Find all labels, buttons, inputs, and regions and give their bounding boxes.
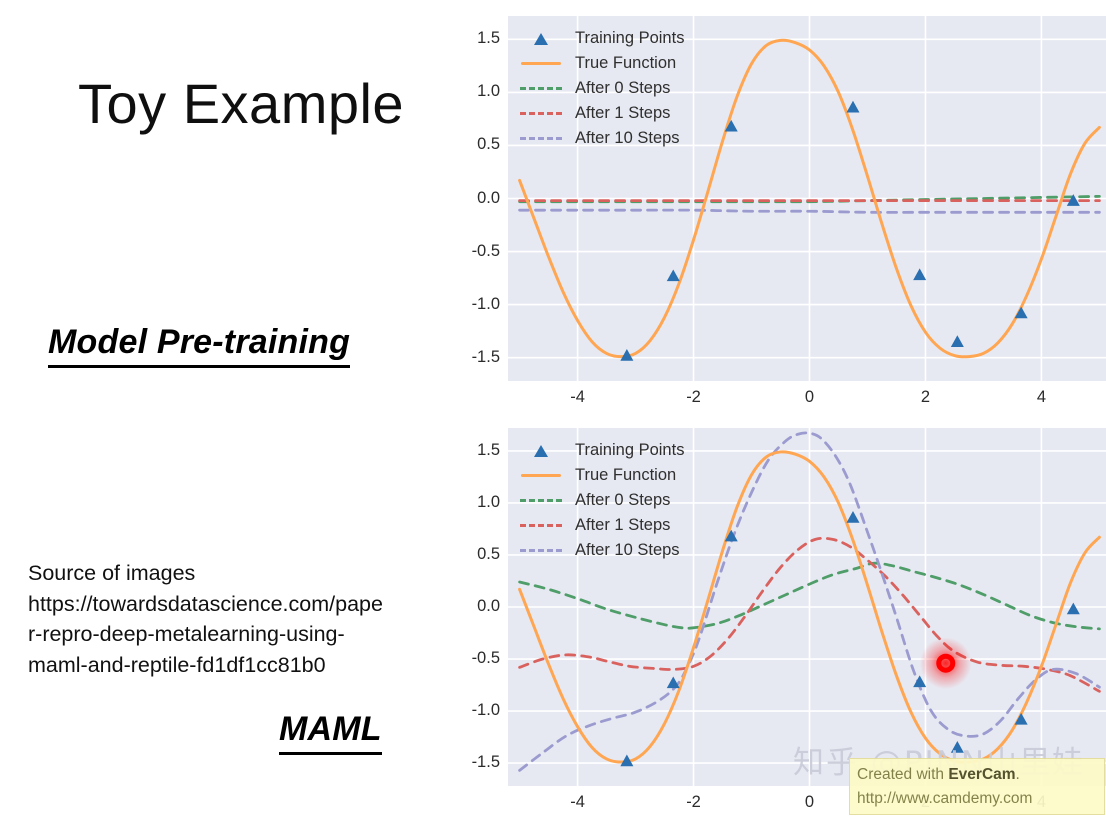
legend-key-dashed <box>518 518 564 534</box>
x-tick-label: 4 <box>1016 388 1066 407</box>
y-tick-label: 1.5 <box>456 441 500 460</box>
y-tick-label: -1.0 <box>456 701 500 720</box>
legend-label: After 1 Steps <box>575 104 670 123</box>
triangle-marker-icon <box>534 33 548 45</box>
legend-label: After 10 Steps <box>575 541 680 560</box>
source-line-1: Source of images <box>28 558 472 589</box>
y-tick-label: 0.0 <box>456 597 500 616</box>
y-tick-label: 1.0 <box>456 493 500 512</box>
dashed-line-icon <box>520 87 562 90</box>
dashed-line-icon <box>520 499 562 502</box>
training-point-marker <box>1015 713 1028 725</box>
legend-key-dashed <box>518 106 564 122</box>
slide-root: Toy Example Model Pre-training Source of… <box>0 0 1106 817</box>
section-label-maml: MAML <box>279 712 382 755</box>
training-point-marker <box>846 101 859 113</box>
evercam-suffix: . <box>1016 766 1020 783</box>
cursor-glow <box>920 637 972 689</box>
chart-model-pretraining: Training PointsTrue FunctionAfter 0 Step… <box>460 8 1106 406</box>
y-tick-label: 0.5 <box>456 135 500 154</box>
solid-line-icon <box>521 62 561 65</box>
x-tick-label: -4 <box>553 388 603 407</box>
x-tick-label: 2 <box>900 388 950 407</box>
source-line-2: https://towardsdatascience.com/pape <box>28 589 472 620</box>
legend-item-true-function[interactable]: True Function <box>518 51 684 76</box>
training-point-marker <box>1015 307 1028 319</box>
y-tick-label: -1.0 <box>456 295 500 314</box>
legend-label: After 1 Steps <box>575 516 670 535</box>
evercam-line-1: Created with EverCam. <box>857 763 1097 787</box>
training-point-marker <box>913 268 926 280</box>
dashed-line-icon <box>520 112 562 115</box>
legend-item-after-10-steps[interactable]: After 10 Steps <box>518 126 684 151</box>
chart-legend-maml: Training PointsTrue FunctionAfter 0 Step… <box>518 438 684 563</box>
legend-item-after-10-steps[interactable]: After 10 Steps <box>518 538 684 563</box>
legend-key-dashed <box>518 543 564 559</box>
legend-key-dashed <box>518 81 564 97</box>
legend-key-marker <box>518 31 564 47</box>
evercam-watermark-box: Created with EverCam. http://www.camdemy… <box>849 758 1105 815</box>
legend-label: Training Points <box>575 29 684 48</box>
source-of-images-text: Source of images https://towardsdatascie… <box>28 558 472 680</box>
legend-key-solid <box>518 468 564 484</box>
legend-item-after-0-steps[interactable]: After 0 Steps <box>518 488 684 513</box>
y-tick-label: -0.5 <box>456 649 500 668</box>
legend-item-training-points[interactable]: Training Points <box>518 438 684 463</box>
y-tick-label: -0.5 <box>456 242 500 261</box>
legend-label: After 0 Steps <box>575 491 670 510</box>
y-tick-label: -1.5 <box>456 753 500 772</box>
legend-key-dashed <box>518 493 564 509</box>
x-tick-label: -2 <box>669 793 719 812</box>
x-tick-label: 0 <box>785 793 835 812</box>
x-tick-label: 0 <box>785 388 835 407</box>
legend-item-after-1-steps[interactable]: After 1 Steps <box>518 101 684 126</box>
legend-label: True Function <box>575 54 676 73</box>
series-line-after-10-steps <box>520 210 1100 212</box>
page-title: Toy Example <box>78 76 404 132</box>
legend-label: After 10 Steps <box>575 129 680 148</box>
training-point-marker <box>846 511 859 523</box>
x-tick-label: -2 <box>669 388 719 407</box>
y-tick-label: 1.5 <box>456 29 500 48</box>
chart-legend-pretraining: Training PointsTrue FunctionAfter 0 Step… <box>518 26 684 151</box>
dashed-line-icon <box>520 549 562 552</box>
y-tick-label: -1.5 <box>456 348 500 367</box>
legend-label: True Function <box>575 466 676 485</box>
training-point-marker <box>667 269 680 281</box>
legend-item-true-function[interactable]: True Function <box>518 463 684 488</box>
triangle-marker-icon <box>534 445 548 457</box>
evercam-line-2: http://www.camdemy.com <box>857 787 1097 811</box>
source-line-4: maml-and-reptile-fd1df1cc81b0 <box>28 650 472 681</box>
training-point-marker <box>951 335 964 347</box>
legend-item-training-points[interactable]: Training Points <box>518 26 684 51</box>
legend-item-after-0-steps[interactable]: After 0 Steps <box>518 76 684 101</box>
y-tick-label: 1.0 <box>456 82 500 101</box>
training-point-marker <box>1067 603 1080 615</box>
legend-label: Training Points <box>575 441 684 460</box>
evercam-prefix: Created with <box>857 766 948 783</box>
legend-key-dashed <box>518 131 564 147</box>
legend-key-solid <box>518 56 564 72</box>
y-tick-label: 0.5 <box>456 545 500 564</box>
dashed-line-icon <box>520 137 562 140</box>
section-label-pretraining: Model Pre-training <box>48 325 350 368</box>
dashed-line-icon <box>520 524 562 527</box>
legend-item-after-1-steps[interactable]: After 1 Steps <box>518 513 684 538</box>
evercam-brand: EverCam <box>948 766 1015 783</box>
solid-line-icon <box>521 474 561 477</box>
x-tick-label: -4 <box>553 793 603 812</box>
legend-key-marker <box>518 443 564 459</box>
source-line-3: r-repro-deep-metalearning-using- <box>28 619 472 650</box>
y-tick-label: 0.0 <box>456 189 500 208</box>
legend-label: After 0 Steps <box>575 79 670 98</box>
